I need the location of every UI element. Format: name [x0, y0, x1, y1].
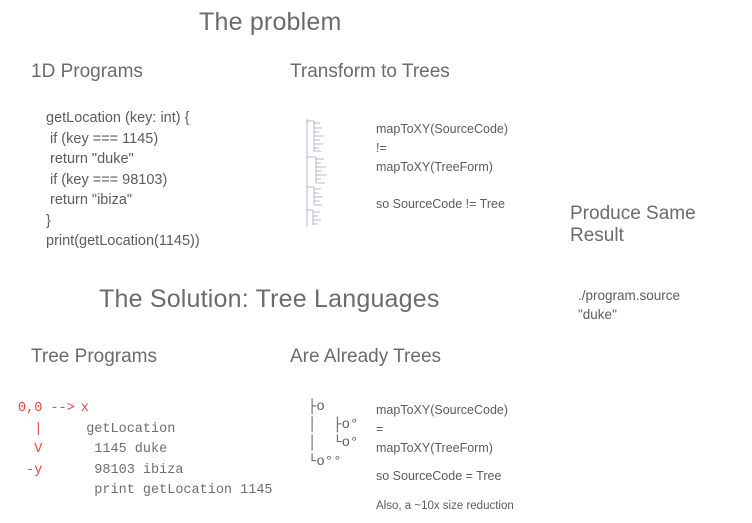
- tree-program-line: 1145 duke: [70, 440, 167, 461]
- heading-transform-to-trees: Transform to Trees: [290, 61, 450, 83]
- axis-marker: -y: [18, 461, 70, 482]
- miniature-tree-diagram: [302, 117, 356, 234]
- tree-program-axis-origin-row: 0,0 --> x: [18, 399, 273, 420]
- tree-program-row: print getLocation 1145: [18, 481, 273, 502]
- source-code-block: getLocation (key: int) { if (key === 114…: [46, 108, 200, 252]
- page-title: The problem: [199, 8, 342, 37]
- slide-canvas: The problem 1D Programs Transform to Tre…: [0, 0, 752, 523]
- axis-marker: |: [18, 420, 70, 441]
- solution-conclusion: so SourceCode = Tree: [376, 467, 501, 486]
- solution-title: The Solution: Tree Languages: [99, 285, 440, 314]
- heading-produce-same-result: Produce Same Result: [570, 203, 745, 247]
- axis-origin-label: 0,0 -->: [18, 399, 75, 420]
- tree-program-row: -y 98103 ibiza: [18, 461, 273, 482]
- solution-mapping-note: mapToXY(SourceCode) = mapToXY(TreeForm): [376, 401, 508, 457]
- axis-x-label: x: [75, 399, 89, 420]
- tree-program-line: print getLocation 1145: [70, 481, 273, 502]
- result-output-block: ./program.source "duke": [578, 286, 680, 324]
- tree-program-line: getLocation: [70, 420, 175, 441]
- tree-program-row: V 1145 duke: [18, 440, 273, 461]
- axis-marker: [18, 481, 70, 502]
- ascii-tree-diagram: ├o │ ├o° │ └o° └o°°: [308, 398, 358, 471]
- solution-footnote: Also, a ~10x size reduction: [376, 500, 514, 512]
- tree-program-block: 0,0 --> x | getLocation V 1145 duke -y 9…: [18, 399, 273, 502]
- problem-conclusion: so SourceCode != Tree: [376, 195, 505, 214]
- heading-tree-programs: Tree Programs: [31, 346, 157, 368]
- problem-mapping-note: mapToXY(SourceCode) != mapToXY(TreeForm): [376, 120, 508, 176]
- tree-program-line: 98103 ibiza: [70, 461, 183, 482]
- heading-are-already-trees: Are Already Trees: [290, 346, 441, 368]
- tree-program-row: | getLocation: [18, 420, 273, 441]
- axis-marker: V: [18, 440, 70, 461]
- heading-1d-programs: 1D Programs: [31, 61, 143, 83]
